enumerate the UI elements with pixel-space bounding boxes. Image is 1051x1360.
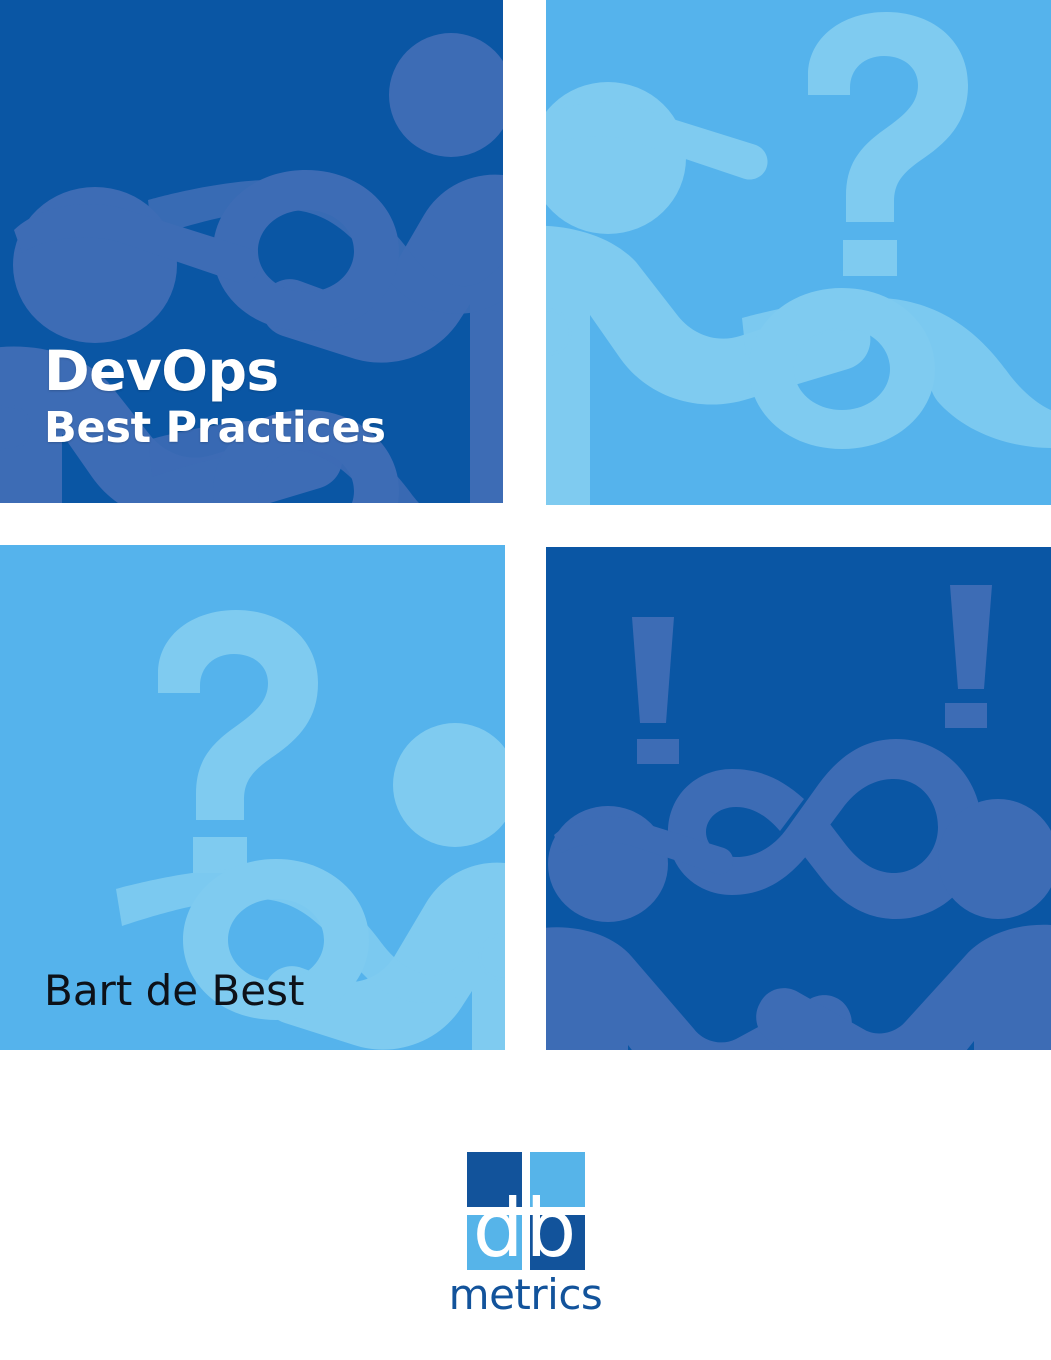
- person-body-right-icon: [756, 925, 1051, 1050]
- book-cover: DevOps Best Practices Bart de Best db me…: [0, 0, 1051, 1360]
- exclamation-right-stem-icon: [950, 585, 992, 689]
- person-head-right-icon: [389, 33, 503, 157]
- logo-wordmark: metrics: [449, 1274, 603, 1316]
- exclamation-left-dot-icon: [637, 739, 679, 764]
- author-name: Bart de Best: [44, 966, 305, 1015]
- infinity-symbol-icon: [668, 739, 982, 919]
- artwork-panel-top-right: [546, 0, 1051, 505]
- question-mark-curve-icon: [808, 12, 968, 222]
- page-subtitle: Best Practices: [44, 406, 504, 451]
- logo-letter-d: d: [473, 1188, 526, 1270]
- page-title: DevOps: [44, 343, 504, 400]
- exclamation-right-dot-icon: [945, 703, 987, 728]
- artwork-bottom-right-svg: [546, 547, 1051, 1050]
- logo-letters: db: [467, 1188, 585, 1270]
- person-head-right-icon: [393, 723, 505, 847]
- logo-grid: db: [467, 1152, 585, 1270]
- question-mark-dot-icon: [843, 240, 897, 276]
- person-body-icon: [546, 226, 870, 505]
- title-block: DevOps Best Practices: [44, 343, 504, 451]
- artwork-top-right-svg: [546, 0, 1051, 505]
- question-mark-curve-icon: [158, 610, 318, 820]
- artwork-panel-bottom-right: [546, 547, 1051, 1050]
- logo-letter-b: b: [526, 1188, 579, 1270]
- publisher-logo: db metrics: [0, 1152, 1051, 1316]
- exclamation-left-stem-icon: [632, 617, 674, 723]
